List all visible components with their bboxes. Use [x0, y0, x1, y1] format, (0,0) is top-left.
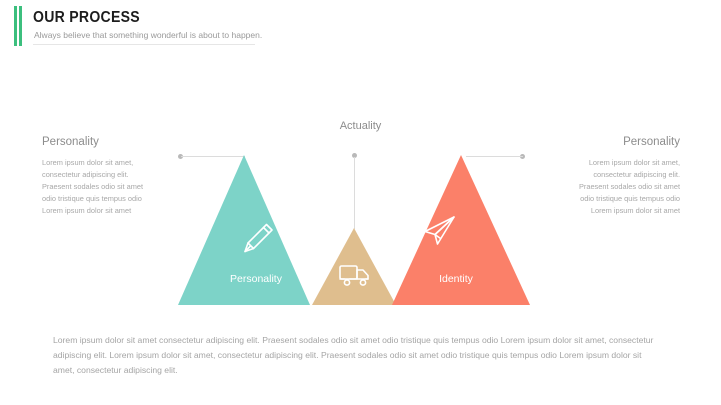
- triangle-label-personality: Personality: [196, 273, 316, 285]
- truck-icon: [338, 262, 372, 288]
- slide-canvas: OUR PROCESS Always believe that somethin…: [0, 0, 721, 405]
- pencil-icon: [240, 221, 276, 255]
- bottom-paragraph: Lorem ipsum dolor sit amet consectetur a…: [53, 333, 665, 377]
- triangle-label-identity: Identity: [396, 273, 516, 285]
- paper-plane-icon: [421, 214, 459, 248]
